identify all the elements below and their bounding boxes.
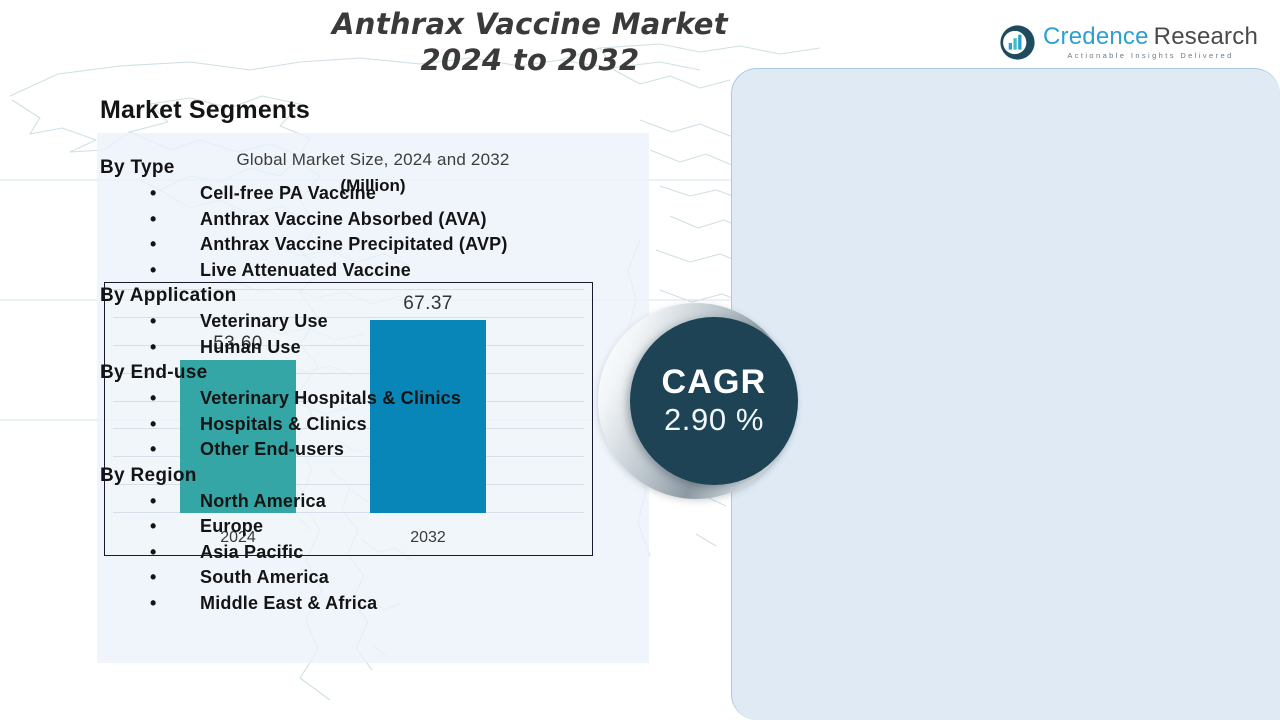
segment-item: South America (100, 565, 540, 591)
bullet-icon (100, 181, 200, 207)
bullet-icon (100, 412, 200, 438)
bullet-icon (100, 514, 200, 540)
page-title-line-2: 2024 to 2032 (170, 42, 890, 78)
brand-logo[interactable]: CredenceResearch Actionable Insights Del… (999, 24, 1258, 61)
segment-item: North America (100, 489, 540, 515)
segment-group-title: By Region (100, 463, 540, 489)
segment-group-title: By Application (100, 283, 540, 309)
segment-group-list: By TypeCell-free PA VaccineAnthrax Vacci… (100, 155, 540, 616)
logo-brand-first: Credence (1043, 23, 1149, 50)
market-segments-content: Market Segments By TypeCell-free PA Vacc… (100, 96, 540, 616)
segment-item: Anthrax Vaccine Absorbed (AVA) (100, 207, 540, 233)
logo-brand-second: Research (1154, 23, 1258, 50)
cagr-badge: CAGR 2.90 % (598, 303, 808, 499)
market-segments-heading: Market Segments (100, 96, 540, 125)
bullet-icon (100, 540, 200, 566)
segment-group-title: By End-use (100, 360, 540, 386)
segment-item-list: Veterinary Hospitals & ClinicsHospitals … (100, 386, 540, 463)
segment-item-list: Cell-free PA VaccineAnthrax Vaccine Abso… (100, 181, 540, 283)
segment-item: Veterinary Hospitals & Clinics (100, 386, 540, 412)
segment-item: Veterinary Use (100, 309, 540, 335)
cagr-value: 2.90 % (664, 402, 764, 438)
segment-item: Anthrax Vaccine Precipitated (AVP) (100, 232, 540, 258)
segment-item: Cell-free PA Vaccine (100, 181, 540, 207)
bullet-icon (100, 565, 200, 591)
segment-item: Live Attenuated Vaccine (100, 258, 540, 284)
bullet-icon (100, 489, 200, 515)
segment-group-title: By Type (100, 155, 540, 181)
market-segments-panel (731, 68, 1280, 720)
bullet-icon (100, 335, 200, 361)
logo-wordmark: CredenceResearch (1043, 25, 1258, 49)
bullet-icon (100, 232, 200, 258)
logo-tagline: Actionable Insights Delivered (1043, 52, 1258, 60)
bullet-icon (100, 207, 200, 233)
bullet-icon (100, 258, 200, 284)
segment-item-list: North AmericaEuropeAsia PacificSouth Ame… (100, 489, 540, 617)
cagr-circle: CAGR 2.90 % (630, 317, 798, 485)
segment-item: Hospitals & Clinics (100, 412, 540, 438)
bullet-icon (100, 591, 200, 617)
segment-item: Other End-users (100, 437, 540, 463)
segment-item: Middle East & Africa (100, 591, 540, 617)
page-title-line-1: Anthrax Vaccine Market (170, 6, 890, 42)
bullet-icon (100, 386, 200, 412)
logo-text-block: CredenceResearch Actionable Insights Del… (1043, 25, 1258, 60)
cagr-label: CAGR (662, 364, 767, 400)
bullet-icon (100, 437, 200, 463)
page-title: Anthrax Vaccine Market 2024 to 2032 (170, 6, 890, 78)
segment-item: Europe (100, 514, 540, 540)
segment-item-list: Veterinary UseHuman Use (100, 309, 540, 360)
segment-item: Human Use (100, 335, 540, 361)
bullet-icon (100, 309, 200, 335)
segment-item: Asia Pacific (100, 540, 540, 566)
bar-chart-circle-icon (999, 24, 1036, 61)
